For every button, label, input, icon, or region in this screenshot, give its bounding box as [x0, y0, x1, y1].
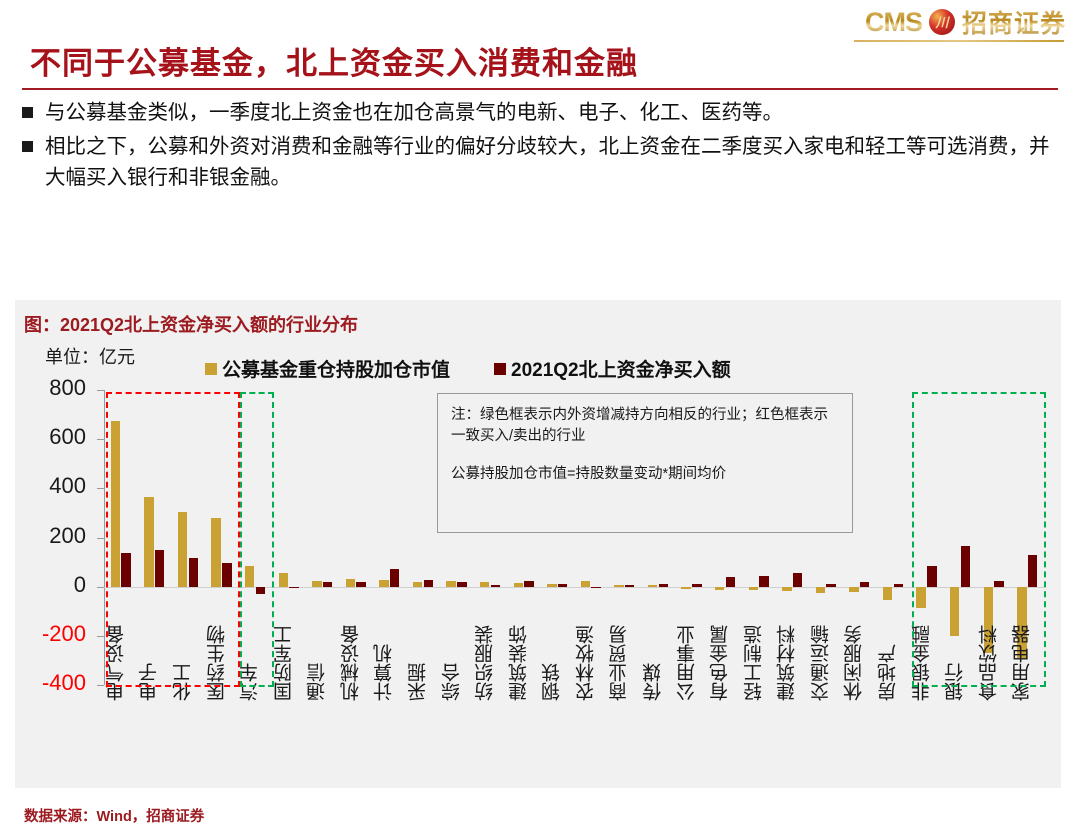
bar-gold-17: [681, 587, 691, 589]
bar-dred-23: [894, 584, 904, 586]
y-axis-label: 0: [12, 572, 86, 598]
bar-gold-16: [648, 585, 658, 587]
brand-logo: CMS 川 招商证券: [865, 4, 1066, 40]
logo-underline: [854, 40, 1064, 42]
x-axis-label: 综合: [439, 663, 466, 701]
legend-label: 公募基金重仓持股加仓市值: [222, 355, 450, 382]
x-axis-label: 纺织服装: [472, 625, 499, 701]
y-axis-label: 200: [12, 523, 86, 549]
x-axis-label: 有色金属: [707, 625, 734, 701]
bar-dred-16: [659, 584, 669, 587]
bar-gold-5: [279, 573, 289, 587]
bar-dred-22: [860, 582, 870, 586]
square-bullet-icon: [22, 141, 33, 152]
x-axis-label: 建筑装饰: [506, 625, 533, 701]
bar-dred-21: [826, 584, 836, 587]
y-axis-label: -400: [12, 670, 86, 696]
y-axis-tick: [97, 390, 104, 391]
bar-gold-6: [312, 581, 322, 586]
bar-dred-9: [424, 580, 434, 587]
x-axis-label: 农林牧渔: [573, 625, 600, 701]
logo-chinese-text: 招商证券: [962, 4, 1066, 40]
x-axis-label: 休闲服务: [841, 625, 868, 701]
x-axis-label: 交通运输: [808, 625, 835, 701]
x-axis-label: 机械设备: [338, 625, 365, 701]
bullet-text: 与公募基金类似，一季度北上资金也在加仓高景气的电新、电子、化工、医药等。: [45, 98, 783, 128]
bar-gold-12: [514, 583, 524, 587]
bar-dred-20: [793, 573, 803, 587]
bar-dred-5: [289, 587, 299, 589]
note-line-1: 注：绿色框表示内外资增减持方向相反的行业；红色框表示一致买入/卖出的行业: [451, 405, 839, 447]
axis-unit-label: 单位：亿元: [45, 343, 135, 369]
list-item: 与公募基金类似，一季度北上资金也在加仓高景气的电新、电子、化工、医药等。: [22, 98, 1062, 128]
y-axis-tick: [97, 439, 104, 440]
annotation-box-green-dashed: [912, 392, 1046, 687]
annotation-box-red-dashed: [106, 392, 240, 687]
source-note: 数据来源：Wind，招商证券: [24, 805, 204, 826]
bullet-text: 相比之下，公募和外资对消费和金融等行业的偏好分歧较大，北上资金在二季度买入家电和…: [45, 132, 1062, 193]
bullet-list: 与公募基金类似，一季度北上资金也在加仓高景气的电新、电子、化工、医药等。 相比之…: [22, 98, 1062, 197]
bar-dred-11: [491, 585, 501, 587]
bar-gold-19: [749, 587, 759, 590]
x-axis-label: 建筑材料: [774, 625, 801, 701]
bar-dred-10: [457, 582, 467, 586]
x-axis-label: 国防军工: [271, 625, 298, 701]
x-axis-label: 采掘: [405, 663, 432, 701]
page-title: 不同于公募基金，北上资金买入消费和金融: [30, 38, 638, 83]
legend-item-0: 公募基金重仓持股加仓市值: [205, 355, 450, 382]
y-axis-label: -200: [12, 621, 86, 647]
x-axis-label: 房地产: [875, 644, 902, 701]
bar-dred-13: [558, 584, 568, 586]
legend-swatch-icon: [494, 363, 506, 375]
bar-dred-19: [759, 576, 769, 587]
bar-gold-11: [480, 582, 490, 587]
y-axis-label: 800: [12, 375, 86, 401]
bar-gold-21: [816, 587, 826, 593]
bar-gold-15: [614, 585, 624, 587]
x-axis-label: 钢铁: [539, 663, 566, 701]
y-axis-label: 600: [12, 424, 86, 450]
bar-dred-15: [625, 585, 635, 587]
logo-seal-icon: 川: [929, 9, 955, 35]
bar-dred-6: [323, 582, 333, 586]
note-line-2: 公募持股加仓市值=持股数量变动*期间均价: [451, 464, 839, 485]
bar-gold-14: [581, 581, 591, 587]
x-axis-label: 轻工制造: [741, 625, 768, 701]
legend-label: 2021Q2北上资金净买入额: [511, 355, 731, 382]
square-bullet-icon: [22, 107, 33, 118]
bar-gold-20: [782, 587, 792, 591]
logo-cms-text: CMS: [865, 7, 922, 38]
list-item: 相比之下，公募和外资对消费和金融等行业的偏好分歧较大，北上资金在二季度买入家电和…: [22, 132, 1062, 193]
annotation-box-green-dashed: [240, 392, 274, 687]
y-axis-tick: [97, 587, 104, 588]
x-axis-label: 计算机: [371, 644, 398, 701]
y-axis-label: 400: [12, 473, 86, 499]
bar-gold-8: [379, 580, 389, 587]
bar-gold-10: [446, 581, 456, 586]
x-axis-label: 公用事业: [674, 625, 701, 701]
y-axis-tick: [97, 488, 104, 489]
figure-caption: 图：2021Q2北上资金净买入额的行业分布: [24, 311, 358, 337]
x-axis-label: 通信: [304, 663, 331, 701]
bar-dred-7: [356, 582, 366, 587]
legend-swatch-icon: [205, 363, 217, 375]
title-divider: [22, 88, 1058, 90]
y-axis-tick: [97, 538, 104, 539]
chart-legend: 公募基金重仓持股加仓市值 2021Q2北上资金净买入额: [205, 355, 731, 382]
bar-gold-22: [849, 587, 859, 592]
bar-dred-17: [692, 584, 702, 586]
bar-gold-7: [346, 579, 356, 586]
bar-dred-14: [591, 587, 601, 589]
legend-item-1: 2021Q2北上资金净买入额: [494, 355, 731, 382]
chart-note-box: 注：绿色框表示内外资增减持方向相反的行业；红色框表示一致买入/卖出的行业 公募持…: [437, 393, 853, 533]
bar-gold-13: [547, 584, 557, 586]
bar-dred-18: [726, 577, 736, 586]
x-axis-label: 传媒: [640, 663, 667, 701]
bar-gold-23: [883, 587, 893, 601]
bar-gold-9: [413, 582, 423, 586]
bar-dred-12: [524, 581, 534, 586]
bar-gold-18: [715, 587, 725, 590]
x-axis-label: 商业贸易: [606, 625, 633, 701]
bar-dred-8: [390, 569, 400, 586]
